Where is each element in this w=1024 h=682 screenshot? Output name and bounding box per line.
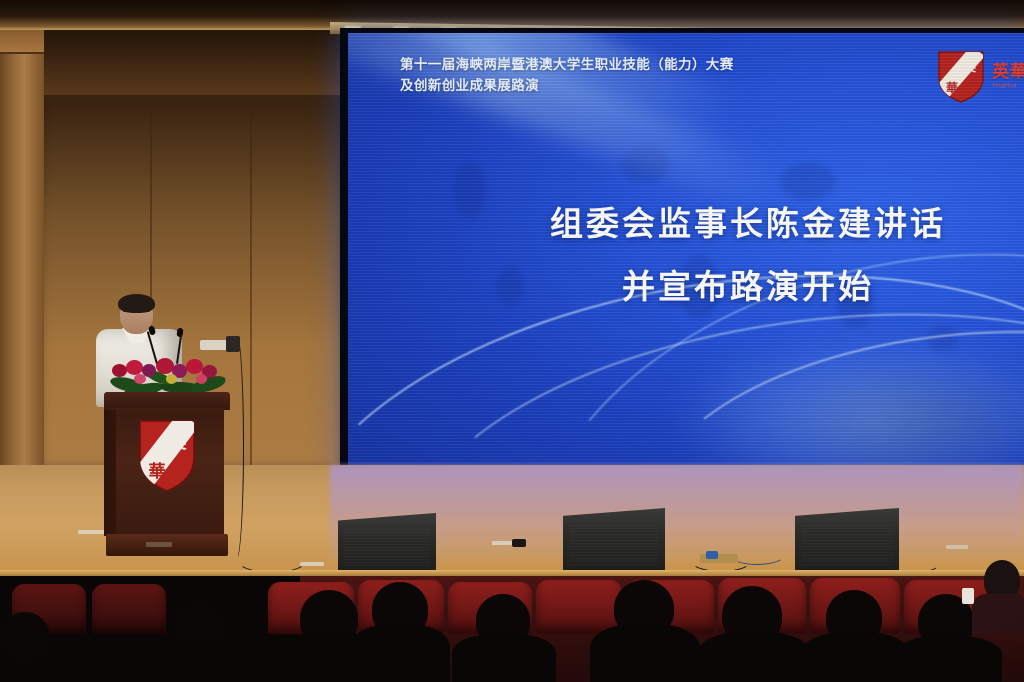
audience-person-head xyxy=(0,612,50,662)
wall-pillar xyxy=(0,0,44,470)
stage-monitor-speaker xyxy=(563,508,665,574)
screen-header-line-1: 第十一届海峡两岸暨港澳大学生职业技能（能力）大赛 xyxy=(400,55,830,76)
flower-bloom xyxy=(196,374,207,384)
screen-title-text: 组委会监事长陈金建讲话 并宣布路演开始 xyxy=(468,193,1024,318)
svg-text:華: 華 xyxy=(946,80,958,95)
logo-name-cn: 英華 xyxy=(992,64,1024,81)
conference-stage-photo: 第十一届海峡两岸暨港澳大学生职业技能（能力）大赛 及创新创业成果展路演 英 華 … xyxy=(0,0,1024,682)
organization-logo: 英 華 英華 YingHua xyxy=(937,50,1024,104)
floor-object xyxy=(512,539,526,547)
flower-bloom xyxy=(134,374,146,384)
audience-area xyxy=(0,576,1024,682)
podium-shield-crest-icon: 英 華 xyxy=(137,418,197,498)
wall-seam xyxy=(250,30,252,470)
podium-nameplate xyxy=(146,542,172,547)
audience-person-shoulders xyxy=(894,636,1002,682)
flower-bloom xyxy=(166,374,177,384)
audience-person-shoulders xyxy=(698,632,810,682)
stage-monitor-speaker xyxy=(338,513,436,575)
speaker-glasses xyxy=(123,311,150,318)
svg-text:華: 華 xyxy=(149,462,166,482)
auditorium-seat xyxy=(92,584,166,634)
audience-person-shoulders xyxy=(802,632,908,682)
screen-title-line-1: 组委会监事长陈金建讲话 xyxy=(468,193,1024,256)
audience-person-shoulders xyxy=(350,624,450,682)
led-screen: 第十一届海峡两岸暨港澳大学生职业技能（能力）大赛 及创新创业成果展路演 英 華 … xyxy=(348,33,1024,470)
stage-monitor-speaker xyxy=(795,508,899,574)
podium-side-panel xyxy=(104,410,116,536)
stage-cable xyxy=(236,545,308,573)
audience-person-shoulders xyxy=(148,642,250,682)
screen-header-line-2: 及创新创业成果展路演 xyxy=(400,76,830,97)
logo-name-en: YingHua xyxy=(992,84,1024,90)
speaker-podium: 英 華 xyxy=(104,392,230,567)
svg-text:英: 英 xyxy=(170,432,188,453)
monitor-grille xyxy=(344,529,430,566)
handheld-device xyxy=(962,588,974,604)
monitor-grille xyxy=(569,525,659,565)
svg-text:英: 英 xyxy=(964,59,977,74)
podium-cable xyxy=(228,330,244,562)
floor-tape-mark xyxy=(946,545,968,549)
floor-tape-mark xyxy=(492,541,512,545)
auditorium-seat xyxy=(536,580,622,634)
monitor-grille xyxy=(801,525,893,565)
audience-person-body xyxy=(972,594,1024,634)
shield-crest-icon: 英 華 xyxy=(937,50,985,104)
podium-device xyxy=(226,336,240,352)
cable-connector xyxy=(706,551,718,559)
flower-bloom xyxy=(126,360,143,375)
screen-title-line-2: 并宣布路演开始 xyxy=(468,256,1024,319)
floor-tape-mark xyxy=(78,530,104,534)
screen-header-text: 第十一届海峡两岸暨港澳大学生职业技能（能力）大赛 及创新创业成果展路演 xyxy=(400,55,830,97)
flower-bloom xyxy=(112,364,127,377)
audience-person-shoulders xyxy=(590,624,700,682)
logo-wordmark: 英華 YingHua xyxy=(992,64,1024,90)
audience-person-shoulders xyxy=(452,634,556,682)
flower-bloom xyxy=(186,359,203,374)
